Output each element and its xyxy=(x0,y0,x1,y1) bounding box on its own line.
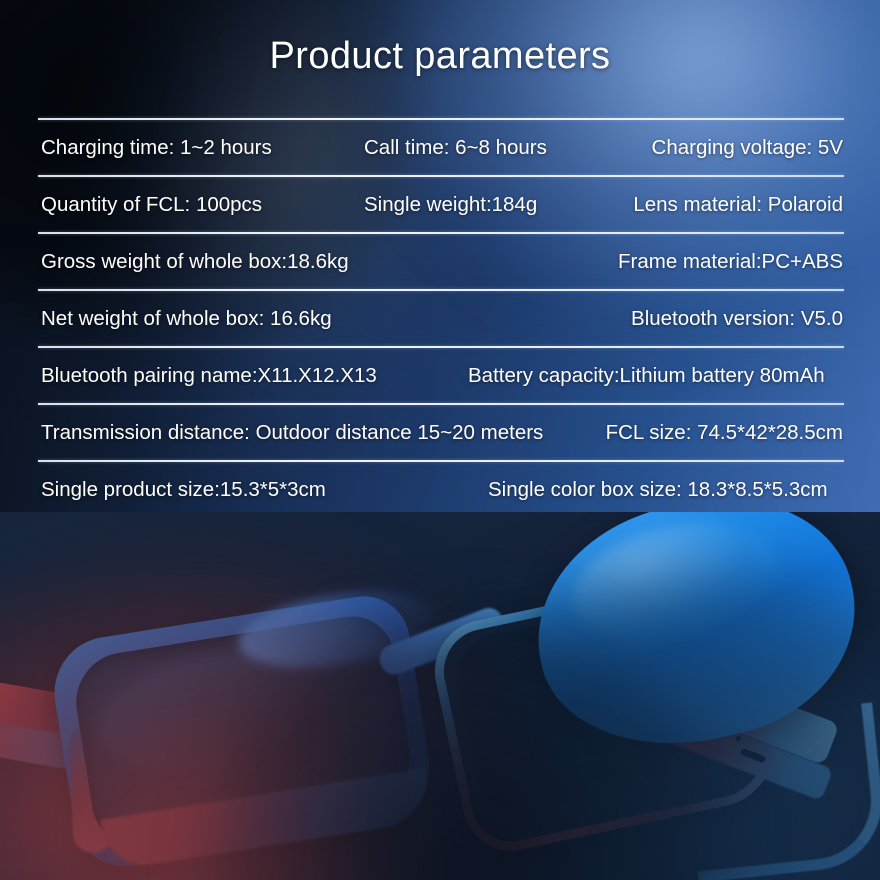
spec-cell-middle: Single weight:184g xyxy=(364,192,537,218)
microphone-hole xyxy=(736,736,741,741)
table-row: Gross weight of whole box:18.6kg Frame m… xyxy=(38,234,844,289)
spec-cell-right: Frame material:PC+ABS xyxy=(618,249,843,275)
spec-cell-middle: Single color box size: 18.3*8.5*5.3cm xyxy=(488,477,828,503)
table-row: Charging time: 1~2 hours Call time: 6~8 … xyxy=(38,120,844,175)
spec-cell-left: Bluetooth pairing name:X11.X12.X13 xyxy=(41,363,377,389)
product-parameters-page: Product parameters Charging time: 1~2 ho… xyxy=(0,0,880,880)
spec-cell-left: Net weight of whole box: 16.6kg xyxy=(41,306,332,332)
spec-cell-right: Lens material: Polaroid xyxy=(633,192,843,218)
table-row: Bluetooth pairing name:X11.X12.X13 Batte… xyxy=(38,348,844,403)
spec-cell-left: Single product size:15.3*5*3cm xyxy=(41,477,326,503)
sunglasses-right xyxy=(440,512,880,880)
spec-table: Charging time: 1~2 hours Call time: 6~8 … xyxy=(38,118,844,519)
spec-cell-right: FCL size: 74.5*42*28.5cm xyxy=(606,420,843,446)
spec-cell-middle: Battery capacity:Lithium battery 80mAh xyxy=(468,363,825,389)
spec-cell-left: Charging time: 1~2 hours xyxy=(41,135,272,161)
table-row: Single product size:15.3*5*3cm Single co… xyxy=(38,462,844,517)
spec-cell-left: Transmission distance: Outdoor distance … xyxy=(41,420,543,446)
table-row: Transmission distance: Outdoor distance … xyxy=(38,405,844,460)
table-row: Net weight of whole box: 16.6kg Bluetoot… xyxy=(38,291,844,346)
table-row: Quantity of FCL: 100pcs Single weight:18… xyxy=(38,177,844,232)
spec-cell-middle: Call time: 6~8 hours xyxy=(364,135,547,161)
spec-cell-left: Gross weight of whole box:18.6kg xyxy=(41,249,349,275)
spec-cell-left: Quantity of FCL: 100pcs xyxy=(41,192,262,218)
spec-cell-right: Charging voltage: 5V xyxy=(652,135,843,161)
page-title: Product parameters xyxy=(0,30,880,82)
product-photo xyxy=(0,512,880,880)
spec-cell-right: Bluetooth version: V5.0 xyxy=(631,306,843,332)
